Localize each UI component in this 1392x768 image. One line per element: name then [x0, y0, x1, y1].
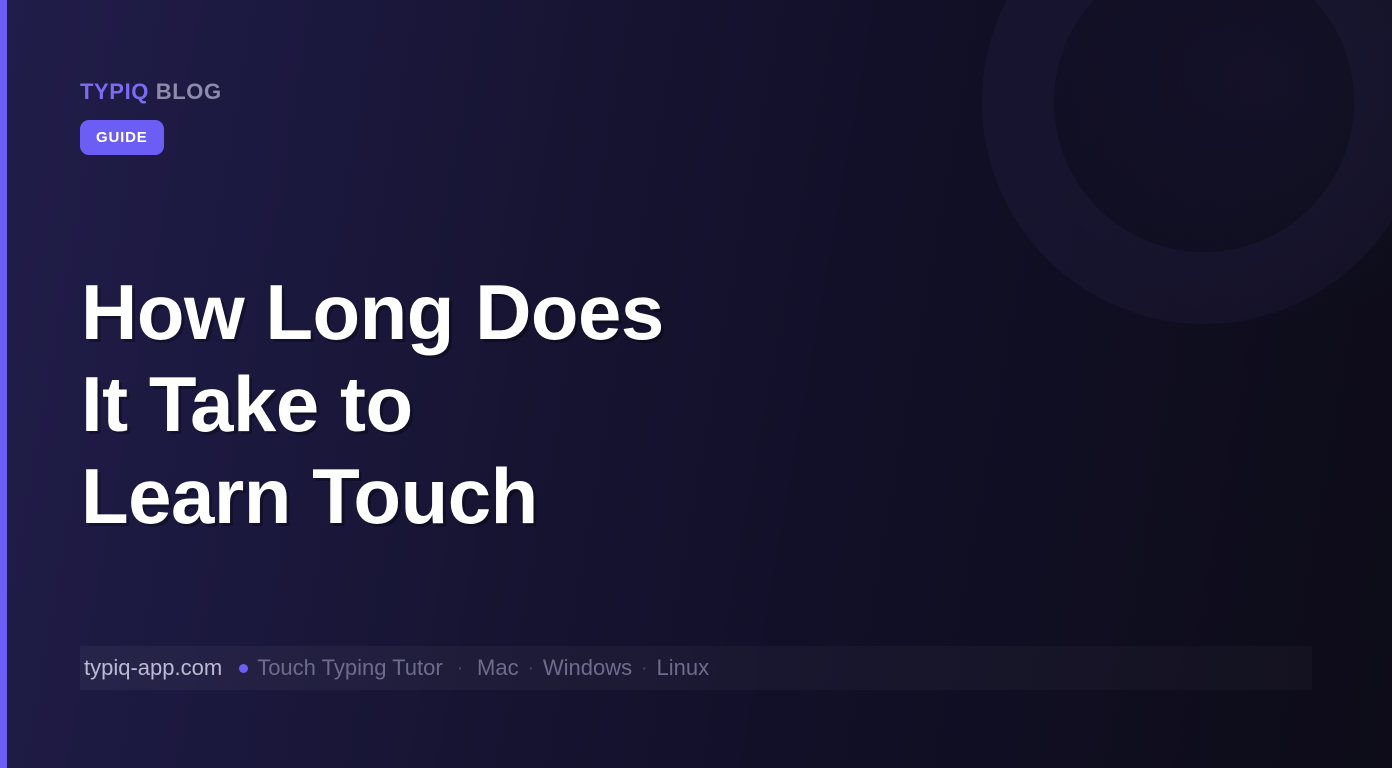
glow-decoration: [1012, 0, 1392, 340]
platform-linux: Linux: [656, 657, 709, 679]
brand-wordmark: TYPIQ BLOG: [80, 81, 222, 103]
dot-icon: [239, 664, 248, 673]
platform-mac: Mac: [477, 657, 519, 679]
blog-cover-canvas: TYPIQ BLOG GUIDE How Long Does It Take t…: [0, 0, 1392, 768]
brand-secondary-label: BLOG: [156, 79, 222, 104]
product-tagline: Touch Typing Tutor: [257, 657, 443, 679]
separator-2: ·: [528, 659, 534, 678]
badge-label: GUIDE: [96, 129, 148, 146]
separator-3: ·: [641, 659, 647, 678]
headline-line-3: Learn Touch: [81, 450, 901, 542]
headline-line-1: How Long Does: [81, 266, 901, 358]
platform-windows: Windows: [543, 657, 632, 679]
separator-1: ·: [457, 659, 463, 678]
status-badge: GUIDE: [80, 120, 164, 155]
brand-primary-label: TYPIQ: [80, 79, 149, 104]
ring-decoration: [982, 0, 1392, 324]
site-url: typiq-app.com: [84, 657, 222, 679]
headline-line-2: It Take to: [81, 358, 901, 450]
footer-meta-bar: typiq-app.com Touch Typing Tutor · Mac ·…: [80, 646, 1312, 690]
page-title: How Long Does It Take to Learn Touch: [81, 266, 901, 542]
left-accent-bar: [0, 0, 7, 768]
